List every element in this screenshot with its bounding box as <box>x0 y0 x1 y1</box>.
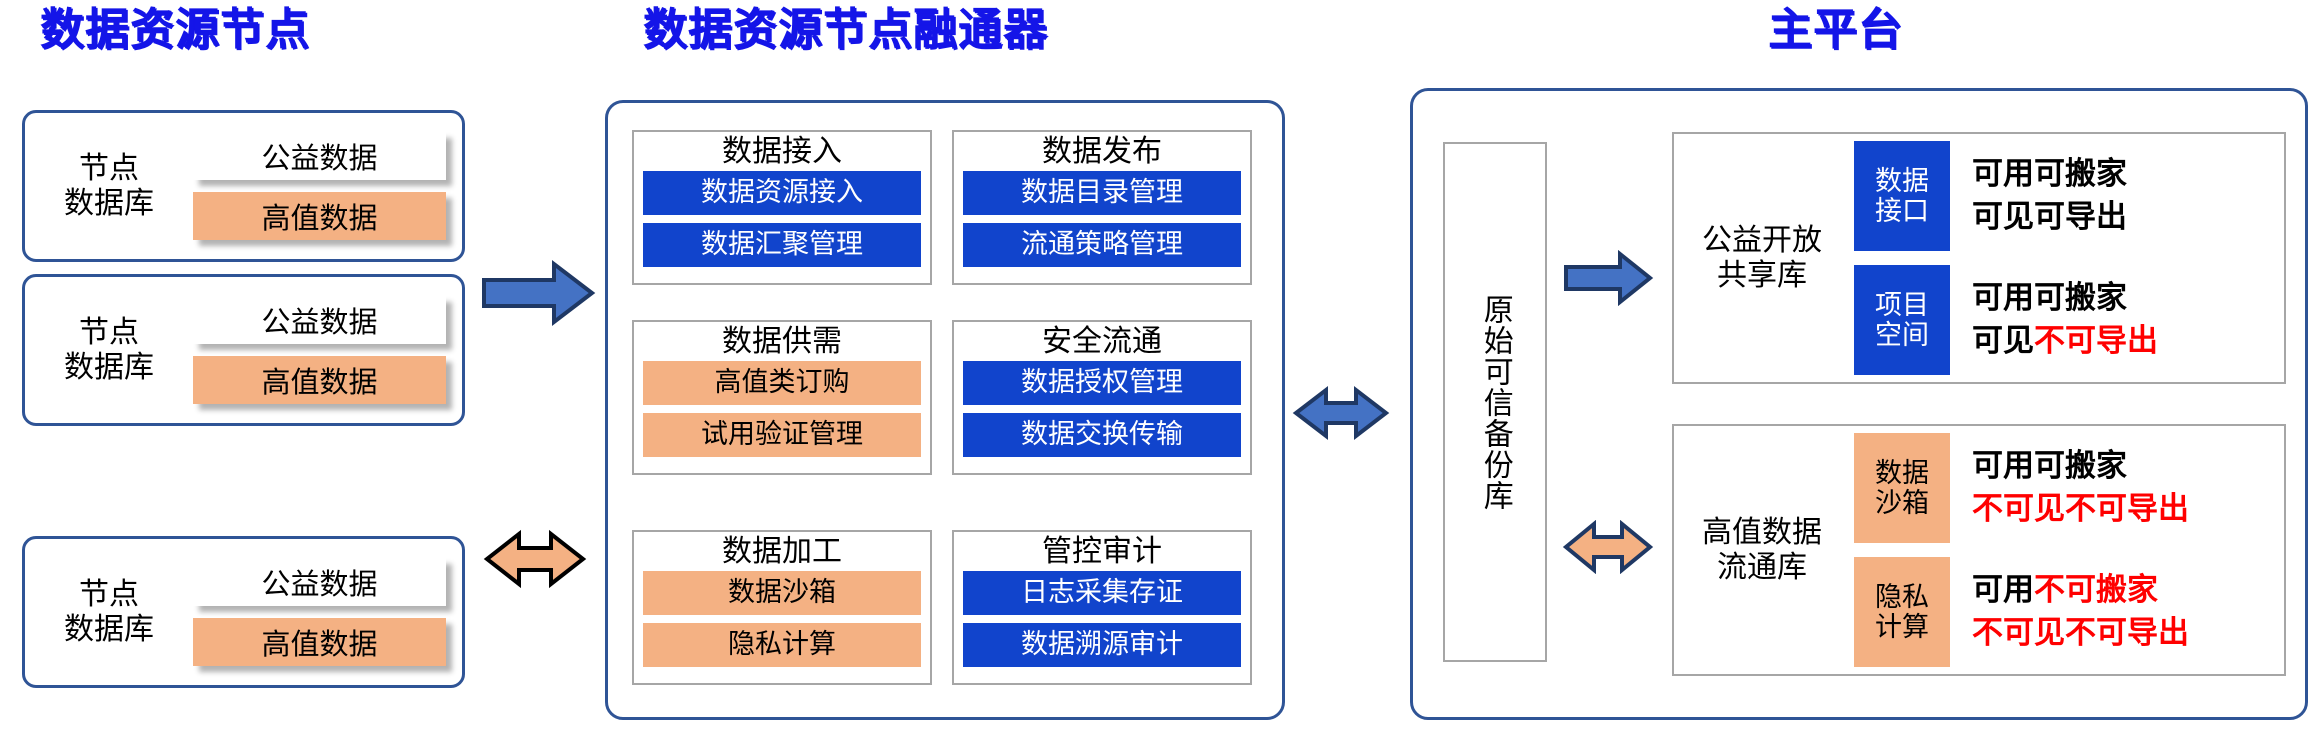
permission-part-negative: 不可导出 <box>2034 323 2158 358</box>
high-value-data-chip[interactable]: 高值数据 <box>193 618 446 666</box>
permission-part-negative: 不可搬家 <box>2034 572 2158 607</box>
cell-item[interactable]: 试用验证管理 <box>643 413 921 457</box>
cell-items: 数据沙箱 隐私计算 <box>643 571 921 667</box>
cell-title: 数据发布 <box>1042 135 1162 169</box>
cell-item[interactable]: 数据交换传输 <box>963 413 1241 457</box>
high-value-data-chip[interactable]: 高值数据 <box>193 356 446 404</box>
cell-title: 管控审计 <box>1042 535 1162 569</box>
cell-secure-circulation[interactable]: 安全流通 数据授权管理 数据交换传输 <box>952 320 1252 475</box>
connector-to-platform-arrow <box>1292 385 1390 441</box>
permission-list: 可用可搬家 可见可导出 <box>1972 157 2127 234</box>
node-to-connector-arrow <box>480 258 596 328</box>
cell-item[interactable]: 数据目录管理 <box>963 171 1241 215</box>
cell-items: 数据目录管理 流通策略管理 <box>963 171 1241 267</box>
data-interface-tag[interactable]: 数据 接口 <box>1854 141 1950 251</box>
backup-to-highvalue-library-arrow <box>1562 520 1654 574</box>
cell-items: 日志采集存证 数据溯源审计 <box>963 571 1241 667</box>
permission-line: 可用可搬家 <box>1972 157 2127 192</box>
library-rows: 数据 沙箱 可用可搬家 不可见不可导出 隐私 计算 可用不可搬家 不可见不可导出 <box>1850 433 2284 667</box>
node-database-box-1[interactable]: 节点 数据库 公益数据 高值数据 <box>22 110 465 262</box>
cell-data-processing[interactable]: 数据加工 数据沙箱 隐私计算 <box>632 530 932 685</box>
library-row: 数据 沙箱 可用可搬家 不可见不可导出 <box>1854 433 2284 543</box>
public-data-chip[interactable]: 公益数据 <box>193 296 446 344</box>
permission-list: 可用不可搬家 不可见不可导出 <box>1972 573 2189 650</box>
node-database-label: 节点 数据库 <box>25 577 193 648</box>
node-data-chips: 公益数据 高值数据 <box>193 296 462 404</box>
backup-store-label: 原始可信备份库 <box>1479 294 1511 511</box>
cell-item[interactable]: 隐私计算 <box>643 623 921 667</box>
node-database-label: 节点 数据库 <box>25 315 193 386</box>
library-row: 数据 接口 可用可搬家 可见可导出 <box>1854 141 2284 251</box>
permission-part: 可用可搬家 <box>1972 156 2127 191</box>
cell-item[interactable]: 流通策略管理 <box>963 223 1241 267</box>
permission-part: 可见可导出 <box>1972 199 2127 234</box>
permission-part: 可用可搬家 <box>1972 448 2127 483</box>
cell-item[interactable]: 数据资源接入 <box>643 171 921 215</box>
cell-items: 高值类订购 试用验证管理 <box>643 361 921 457</box>
cell-items: 数据授权管理 数据交换传输 <box>963 361 1241 457</box>
permission-part: 可见 <box>1972 323 2034 358</box>
cell-data-publish[interactable]: 数据发布 数据目录管理 流通策略管理 <box>952 130 1252 285</box>
permission-part: 可用 <box>1972 572 2034 607</box>
original-trusted-backup-store[interactable]: 原始可信备份库 <box>1443 142 1547 662</box>
cell-data-supply-demand[interactable]: 数据供需 高值类订购 试用验证管理 <box>632 320 932 475</box>
cell-item[interactable]: 高值类订购 <box>643 361 921 405</box>
cell-data-ingest[interactable]: 数据接入 数据资源接入 数据汇聚管理 <box>632 130 932 285</box>
cell-item[interactable]: 数据溯源审计 <box>963 623 1241 667</box>
cell-item[interactable]: 数据汇聚管理 <box>643 223 921 267</box>
library-name: 公益开放 共享库 <box>1674 223 1850 294</box>
cell-item[interactable]: 数据沙箱 <box>643 571 921 615</box>
node-database-box-3[interactable]: 节点 数据库 公益数据 高值数据 <box>22 536 465 688</box>
public-data-chip[interactable]: 公益数据 <box>193 132 446 180</box>
node-data-chips: 公益数据 高值数据 <box>193 132 462 240</box>
cell-title: 安全流通 <box>1042 325 1162 359</box>
permission-line: 可用可搬家 <box>1972 449 2189 484</box>
cell-governance-audit[interactable]: 管控审计 日志采集存证 数据溯源审计 <box>952 530 1252 685</box>
permission-line: 可见可导出 <box>1972 200 2127 235</box>
permission-list: 可用可搬家 可见不可导出 <box>1972 281 2158 358</box>
cell-title: 数据接入 <box>722 135 842 169</box>
library-row: 项目 空间 可用可搬家 可见不可导出 <box>1854 265 2284 375</box>
permission-line: 可用不可搬家 <box>1972 573 2189 608</box>
library-rows: 数据 接口 可用可搬家 可见可导出 项目 空间 可用可搬家 可见不可导出 <box>1850 141 2284 375</box>
permission-part-negative: 不可见不可导出 <box>1972 615 2189 650</box>
high-value-data-circulation-library[interactable]: 高值数据 流通库 数据 沙箱 可用可搬家 不可见不可导出 隐私 计算 可用不可搬… <box>1672 424 2286 676</box>
cell-items: 数据资源接入 数据汇聚管理 <box>643 171 921 267</box>
public-open-sharing-library[interactable]: 公益开放 共享库 数据 接口 可用可搬家 可见可导出 项目 空间 可用可搬家 可… <box>1672 132 2286 384</box>
cell-item[interactable]: 数据授权管理 <box>963 361 1241 405</box>
permission-part-negative: 不可见不可导出 <box>1972 491 2189 526</box>
permission-part: 可用可搬家 <box>1972 280 2127 315</box>
data-sandbox-tag[interactable]: 数据 沙箱 <box>1854 433 1950 543</box>
backup-to-public-library-arrow <box>1562 250 1654 306</box>
permission-list: 可用可搬家 不可见不可导出 <box>1972 449 2189 526</box>
public-data-chip[interactable]: 公益数据 <box>193 558 446 606</box>
library-row: 隐私 计算 可用不可搬家 不可见不可导出 <box>1854 557 2284 667</box>
cell-title: 数据加工 <box>722 535 842 569</box>
left-column-title: 数据资源节点 <box>40 8 310 52</box>
cell-title: 数据供需 <box>722 325 842 359</box>
node-database-label: 节点 数据库 <box>25 151 193 222</box>
node-data-chips: 公益数据 高值数据 <box>193 558 462 666</box>
high-value-data-chip[interactable]: 高值数据 <box>193 192 446 240</box>
node-to-connector-bidirectional-arrow <box>483 528 587 590</box>
permission-line: 可用可搬家 <box>1972 281 2158 316</box>
middle-column-title: 数据资源节点融通器 <box>643 8 1048 52</box>
project-space-tag[interactable]: 项目 空间 <box>1854 265 1950 375</box>
privacy-computing-tag[interactable]: 隐私 计算 <box>1854 557 1950 667</box>
right-column-title: 主平台 <box>1768 8 1903 52</box>
library-name: 高值数据 流通库 <box>1674 515 1850 586</box>
permission-line: 可见不可导出 <box>1972 324 2158 359</box>
permission-line: 不可见不可导出 <box>1972 616 2189 651</box>
cell-item[interactable]: 日志采集存证 <box>963 571 1241 615</box>
node-database-box-2[interactable]: 节点 数据库 公益数据 高值数据 <box>22 274 465 426</box>
permission-line: 不可见不可导出 <box>1972 492 2189 527</box>
